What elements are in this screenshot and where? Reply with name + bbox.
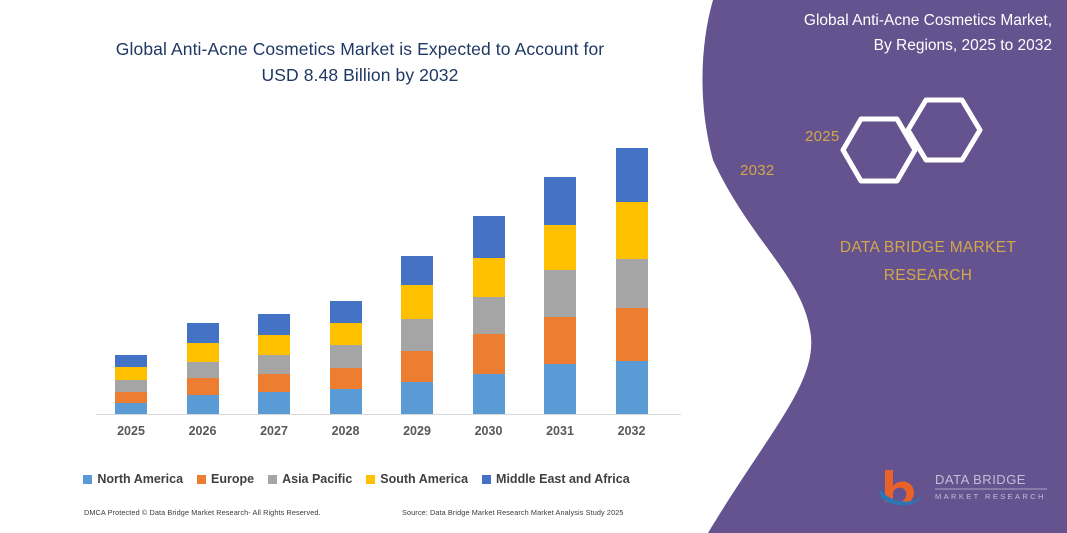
panel-heading-line-1: Global Anti-Acne Cosmetics Market, bbox=[750, 8, 1052, 33]
bar-segment bbox=[115, 367, 147, 380]
x-axis-label-2027: 2027 bbox=[244, 424, 304, 438]
legend-swatch-icon bbox=[268, 475, 277, 484]
bar-group-2026 bbox=[187, 323, 219, 414]
hexagon-outlines bbox=[815, 95, 1035, 205]
x-axis-label-2032: 2032 bbox=[602, 424, 662, 438]
page-title: Global Anti-Acne Cosmetics Market is Exp… bbox=[50, 36, 670, 88]
bar-segment bbox=[330, 389, 362, 414]
x-axis-labels: 20252026202720282029203020312032 bbox=[96, 424, 681, 444]
legend-swatch-icon bbox=[83, 475, 92, 484]
bar-segment bbox=[115, 380, 147, 392]
bar-segment bbox=[616, 202, 648, 259]
legend-swatch-icon bbox=[366, 475, 375, 484]
bar-segment bbox=[115, 355, 147, 367]
legend-label: North America bbox=[97, 472, 183, 486]
bar-segment bbox=[401, 285, 433, 319]
bar-segment bbox=[258, 335, 290, 355]
data-bridge-logo: DATA BRIDGE MARKET RESEARCH bbox=[875, 466, 1055, 508]
brand-panel: Global Anti-Acne Cosmetics Market, By Re… bbox=[660, 0, 1067, 533]
bar-segment bbox=[544, 177, 576, 225]
legend-item-middle-east-and-africa[interactable]: Middle East and Africa bbox=[482, 472, 630, 486]
bar-segment bbox=[473, 374, 505, 414]
bar-group-2032 bbox=[616, 148, 648, 414]
brand-name-line-2: RESEARCH bbox=[808, 262, 1048, 290]
bar-segment bbox=[473, 258, 505, 297]
bar-segment bbox=[258, 355, 290, 374]
x-axis-label-2029: 2029 bbox=[387, 424, 447, 438]
chart-panel: Global Anti-Acne Cosmetics Market is Exp… bbox=[0, 0, 713, 533]
footer-copyright: DMCA Protected © Data Bridge Market Rese… bbox=[84, 508, 321, 517]
bar-segment bbox=[401, 382, 433, 414]
hexagon-2025-label: 2025 bbox=[805, 128, 840, 145]
bar-segment bbox=[401, 319, 433, 351]
x-axis-label-2031: 2031 bbox=[530, 424, 590, 438]
logo-b-mark bbox=[885, 470, 914, 502]
footer-source: Source: Data Bridge Market Research Mark… bbox=[402, 508, 624, 517]
bar-group-2027 bbox=[258, 314, 290, 414]
x-axis-label-2026: 2026 bbox=[173, 424, 233, 438]
x-axis-label-2028: 2028 bbox=[316, 424, 376, 438]
hexagon-badges bbox=[815, 95, 1035, 205]
bar-segment bbox=[330, 323, 362, 345]
bar-segment bbox=[616, 148, 648, 202]
panel-heading: Global Anti-Acne Cosmetics Market, By Re… bbox=[750, 8, 1052, 58]
bar-segment bbox=[401, 351, 433, 382]
bar-segment bbox=[330, 368, 362, 389]
infographic-page: Global Anti-Acne Cosmetics Market is Exp… bbox=[0, 0, 1067, 533]
hexagon-2025-shape bbox=[908, 100, 980, 160]
legend-label: South America bbox=[380, 472, 468, 486]
bar-segment bbox=[187, 323, 219, 343]
bar-group-2028 bbox=[330, 301, 362, 414]
hexagon-2032-label: 2032 bbox=[740, 162, 775, 179]
bar-segment bbox=[330, 345, 362, 368]
bar-segment bbox=[473, 334, 505, 374]
bar-group-2029 bbox=[401, 256, 433, 414]
bar-group-2030 bbox=[473, 216, 505, 414]
bar-segment bbox=[115, 403, 147, 414]
bar-segment bbox=[544, 225, 576, 270]
logo-subtitle-text: MARKET RESEARCH bbox=[935, 492, 1046, 501]
logo-mark: DATA BRIDGE MARKET RESEARCH bbox=[875, 466, 1055, 508]
legend-swatch-icon bbox=[197, 475, 206, 484]
bar-segment bbox=[473, 297, 505, 334]
hexagon-2032-shape bbox=[843, 119, 915, 181]
legend-swatch-icon bbox=[482, 475, 491, 484]
legend-label: Asia Pacific bbox=[282, 472, 352, 486]
bar-segment bbox=[187, 362, 219, 378]
bar-segment bbox=[473, 216, 505, 258]
bar-segment bbox=[401, 256, 433, 285]
bar-segment bbox=[187, 395, 219, 414]
brand-name: DATA BRIDGE MARKET RESEARCH bbox=[808, 234, 1048, 290]
brand-name-line-1: DATA BRIDGE MARKET bbox=[808, 234, 1048, 262]
bar-segment bbox=[258, 392, 290, 414]
chart-legend: North AmericaEuropeAsia PacificSouth Ame… bbox=[0, 472, 713, 486]
legend-label: Middle East and Africa bbox=[496, 472, 630, 486]
x-axis-line bbox=[96, 414, 681, 415]
bar-segment bbox=[330, 301, 362, 323]
bar-segment bbox=[544, 364, 576, 414]
legend-item-north-america[interactable]: North America bbox=[83, 472, 183, 486]
legend-item-asia-pacific[interactable]: Asia Pacific bbox=[268, 472, 352, 486]
bar-segment bbox=[616, 361, 648, 414]
legend-item-south-america[interactable]: South America bbox=[366, 472, 468, 486]
bar-segment bbox=[616, 308, 648, 361]
x-axis-label-2025: 2025 bbox=[101, 424, 161, 438]
bar-segment bbox=[258, 374, 290, 392]
bar-segment bbox=[616, 259, 648, 308]
x-axis-label-2030: 2030 bbox=[459, 424, 519, 438]
chart-title-line-1: Global Anti-Acne Cosmetics Market is Exp… bbox=[50, 36, 670, 62]
bar-group-2025 bbox=[115, 355, 147, 414]
stacked-bar-chart bbox=[96, 110, 681, 415]
panel-heading-line-2: By Regions, 2025 to 2032 bbox=[750, 33, 1052, 58]
legend-label: Europe bbox=[211, 472, 254, 486]
bar-segment bbox=[544, 270, 576, 317]
chart-title-line-2: USD 8.48 Billion by 2032 bbox=[50, 62, 670, 88]
legend-item-europe[interactable]: Europe bbox=[197, 472, 254, 486]
bar-segment bbox=[187, 378, 219, 395]
bar-segment bbox=[187, 343, 219, 362]
bar-group-2031 bbox=[544, 177, 576, 414]
bar-segment bbox=[115, 392, 147, 403]
bar-segment bbox=[544, 317, 576, 364]
bar-segment bbox=[258, 314, 290, 335]
logo-title-text: DATA BRIDGE bbox=[935, 472, 1026, 487]
